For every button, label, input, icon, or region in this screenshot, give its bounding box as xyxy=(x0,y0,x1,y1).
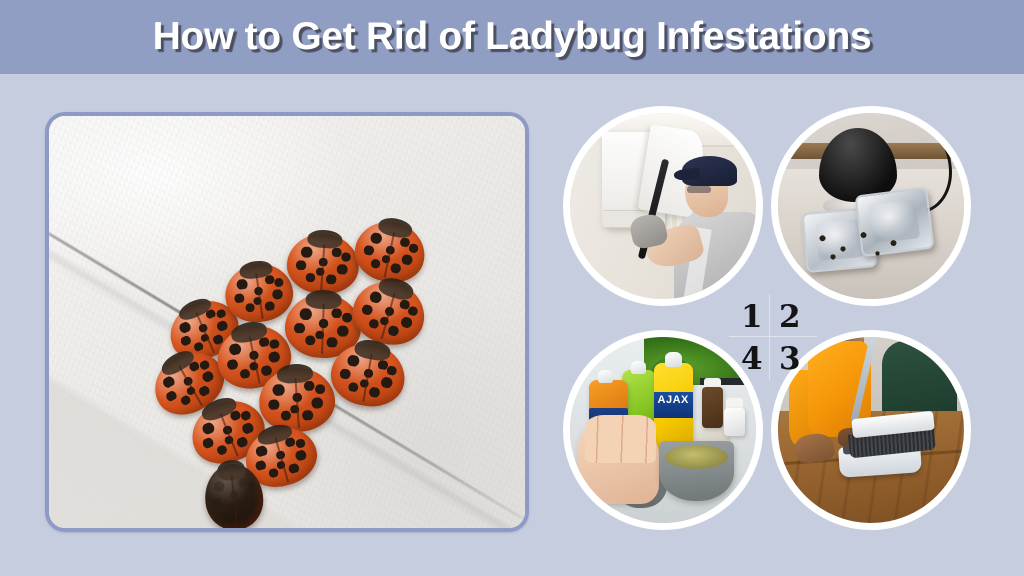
step-number-2: 2 xyxy=(779,302,801,333)
green-bottle-cap xyxy=(631,361,646,374)
white-bottle xyxy=(724,408,744,436)
hero-photo-canvas xyxy=(49,116,525,528)
step-1-ac-unit-cleaning[interactable] xyxy=(563,106,763,306)
content-stage: AJAX xyxy=(0,74,1024,576)
step-3-scene xyxy=(778,337,964,523)
dawn-bottle-cap xyxy=(598,370,613,383)
step-4-scene: AJAX xyxy=(570,337,756,523)
soapy-water-liquid xyxy=(665,445,728,469)
hand-fingers xyxy=(585,415,656,463)
page-title: How to Get Rid of Ladybug Infestations xyxy=(0,0,1024,74)
ajax-brand-text: AJAX xyxy=(654,394,693,406)
ajax-bottle-cap xyxy=(665,352,682,367)
steps-circle-grid: AJAX xyxy=(563,106,975,534)
step-2-scene xyxy=(778,113,964,299)
step-1-scene xyxy=(570,113,756,299)
ladybug-cluster-photo xyxy=(45,112,529,532)
step-2-light-trap[interactable] xyxy=(771,106,971,306)
trapped-insects xyxy=(808,225,908,266)
grid-divider-vertical xyxy=(769,294,770,380)
green-furniture xyxy=(882,341,956,419)
ajax-soap-bottle: AJAX xyxy=(654,363,693,449)
brown-bottle xyxy=(702,387,722,428)
technician-glasses xyxy=(687,186,711,193)
step-3-sweeping[interactable] xyxy=(771,330,971,530)
step-4-soapy-water[interactable]: AJAX xyxy=(563,330,763,530)
step-number-1: 1 xyxy=(741,302,763,333)
